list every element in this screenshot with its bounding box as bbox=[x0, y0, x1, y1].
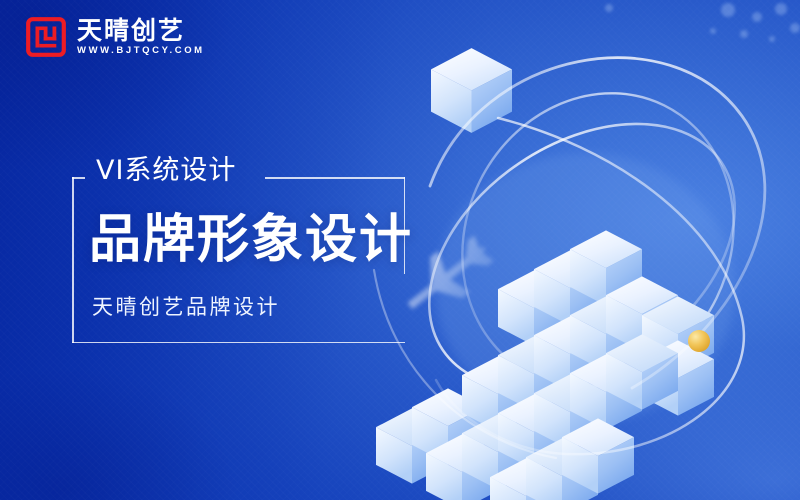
frame-top-long-line bbox=[265, 177, 405, 179]
frame-left-line bbox=[72, 177, 74, 343]
hero-eyebrow: VI系统设计 bbox=[96, 157, 236, 184]
logo-name-cn: 天晴创艺 bbox=[77, 18, 205, 43]
frame-bottom-line bbox=[72, 342, 405, 344]
banner-root: 天晴创艺 WWW.BJTQCY.COM VI系统设计 品牌形象设计 天晴创艺品牌… bbox=[0, 0, 800, 500]
cube-illustration bbox=[370, 0, 800, 500]
hero-text-frame: VI系统设计 品牌形象设计 天晴创艺品牌设计 bbox=[72, 177, 405, 343]
logo-wordmark: 天晴创艺 WWW.BJTQCY.COM bbox=[77, 18, 205, 56]
tianqing-square-monogram-icon bbox=[26, 17, 66, 57]
logo-website: WWW.BJTQCY.COM bbox=[77, 46, 205, 56]
hero-subline: 天晴创艺品牌设计 bbox=[92, 297, 280, 318]
sphere-accent bbox=[688, 330, 710, 352]
frame-top-stub-line bbox=[72, 177, 85, 179]
brand-logo[interactable]: 天晴创艺 WWW.BJTQCY.COM bbox=[26, 17, 205, 57]
hero-headline: 品牌形象设计 bbox=[89, 214, 413, 266]
